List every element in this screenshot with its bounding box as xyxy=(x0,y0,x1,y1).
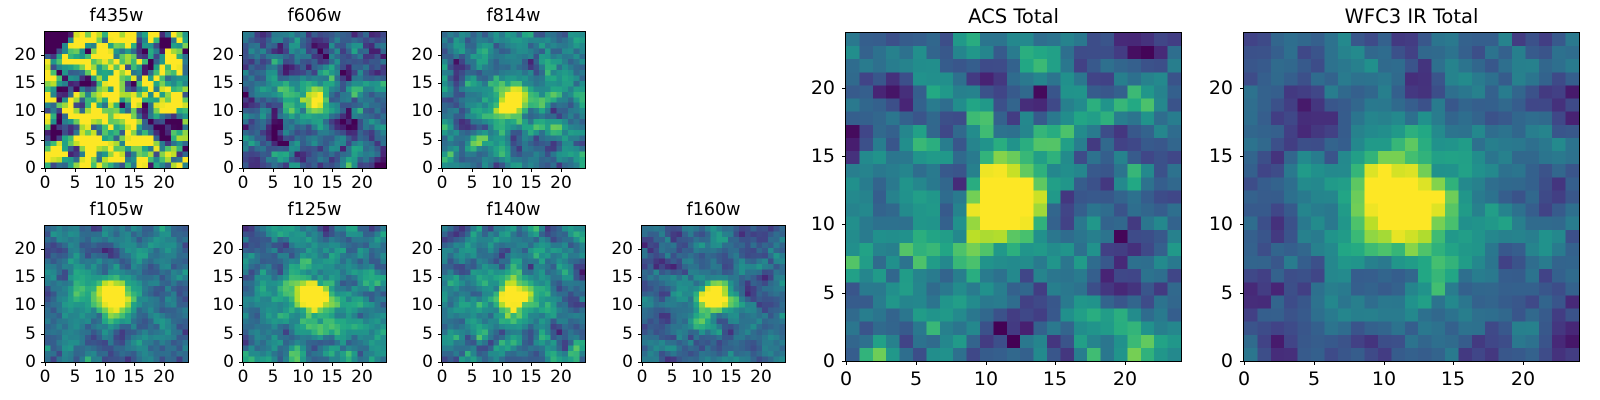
y-tickmark xyxy=(1240,224,1244,225)
y-tick-label: 20 xyxy=(1173,79,1233,98)
x-tick-label: 5 xyxy=(1294,370,1334,389)
y-tick-label: 5 xyxy=(1173,284,1233,303)
x-tickmark xyxy=(1314,361,1315,365)
y-tickmark xyxy=(1240,156,1244,157)
x-tick-label: 0 xyxy=(1224,370,1264,389)
x-tickmark xyxy=(1523,361,1524,365)
image-axes-wfc3-ir-total xyxy=(1243,32,1580,362)
x-tick-label: 15 xyxy=(1433,370,1473,389)
panel-wfc3-ir-total: WFC3 IR Total0055101015152020 xyxy=(0,0,1600,400)
y-tick-label: 10 xyxy=(1173,215,1233,234)
x-tickmark xyxy=(1384,361,1385,365)
panel-title-wfc3-ir-total: WFC3 IR Total xyxy=(1243,7,1580,27)
x-tick-label: 20 xyxy=(1503,370,1543,389)
y-tickmark xyxy=(1240,361,1244,362)
heatmap-image-wfc3-ir-total xyxy=(1244,33,1579,361)
x-tickmark xyxy=(1244,361,1245,365)
y-tick-label: 15 xyxy=(1173,147,1233,166)
figure-canvas: f435w0055101015152020f606w00551010151520… xyxy=(0,0,1600,400)
y-tick-label: 0 xyxy=(1173,352,1233,371)
y-tickmark xyxy=(1240,293,1244,294)
x-tick-label: 10 xyxy=(1364,370,1404,389)
y-tickmark xyxy=(1240,88,1244,89)
x-tickmark xyxy=(1453,361,1454,365)
